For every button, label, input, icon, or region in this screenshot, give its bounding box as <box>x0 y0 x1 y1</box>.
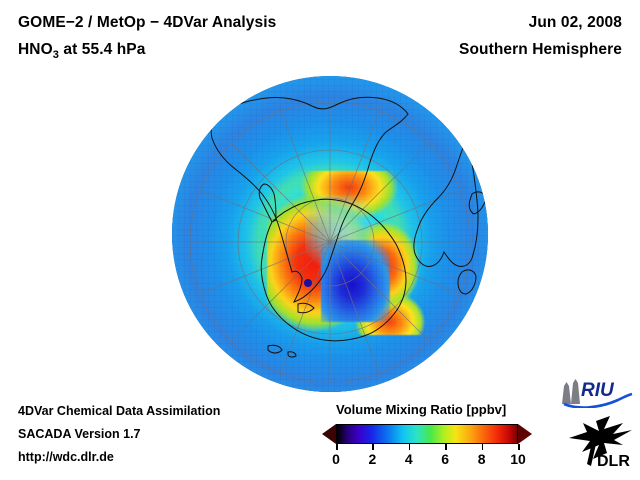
colorbar-tick-label: 4 <box>405 451 413 467</box>
colorbar-gradient <box>336 424 518 444</box>
colorbar-tick-label: 2 <box>368 451 376 467</box>
colorbar-tick-label: 0 <box>332 451 340 467</box>
colorbar-over-arrow <box>518 424 532 444</box>
colorbar-tick-mark <box>372 444 374 450</box>
species-subtitle: HNO3 at 55.4 hPa <box>18 41 145 61</box>
colorbar-tick-mark <box>482 444 484 450</box>
riu-wordmark: RIU <box>581 380 615 401</box>
colorbar-tick-label: 10 <box>510 451 526 467</box>
colorbar-tick-mark <box>445 444 447 450</box>
colorbar-under-arrow <box>322 424 336 444</box>
hemisphere-label: Southern Hemisphere <box>459 41 622 59</box>
colorbar: 0246810 <box>322 424 532 474</box>
riu-logo: RIU <box>558 374 636 408</box>
dlr-logo: DLR <box>566 414 638 472</box>
colorbar-tick-label: 8 <box>478 451 486 467</box>
footer-line-url: http://wdc.dlr.de <box>18 450 114 464</box>
colorbar-tick-mark <box>409 444 411 450</box>
colorbar-tick-label: 6 <box>441 451 449 467</box>
species-name: HNO <box>18 41 53 58</box>
colorbar-tick-mark <box>518 444 520 450</box>
footer-line-assimilation: 4DVar Chemical Data Assimilation <box>18 404 220 418</box>
page-title: GOME−2 / MetOp − 4DVar Analysis <box>18 14 276 32</box>
globe-map <box>172 76 488 392</box>
colorbar-tick-mark <box>336 444 338 450</box>
globe-disc <box>172 76 488 392</box>
station-marker <box>304 279 312 287</box>
riu-towers-icon <box>562 379 580 404</box>
dlr-wordmark: DLR <box>597 453 630 470</box>
globe-limb-shading <box>172 76 488 392</box>
species-level: at 55.4 hPa <box>59 41 146 58</box>
date-label: Jun 02, 2008 <box>529 14 622 32</box>
colorbar-title: Volume Mixing Ratio [ppbv] <box>336 402 506 417</box>
footer-line-version: SACADA Version 1.7 <box>18 427 141 441</box>
